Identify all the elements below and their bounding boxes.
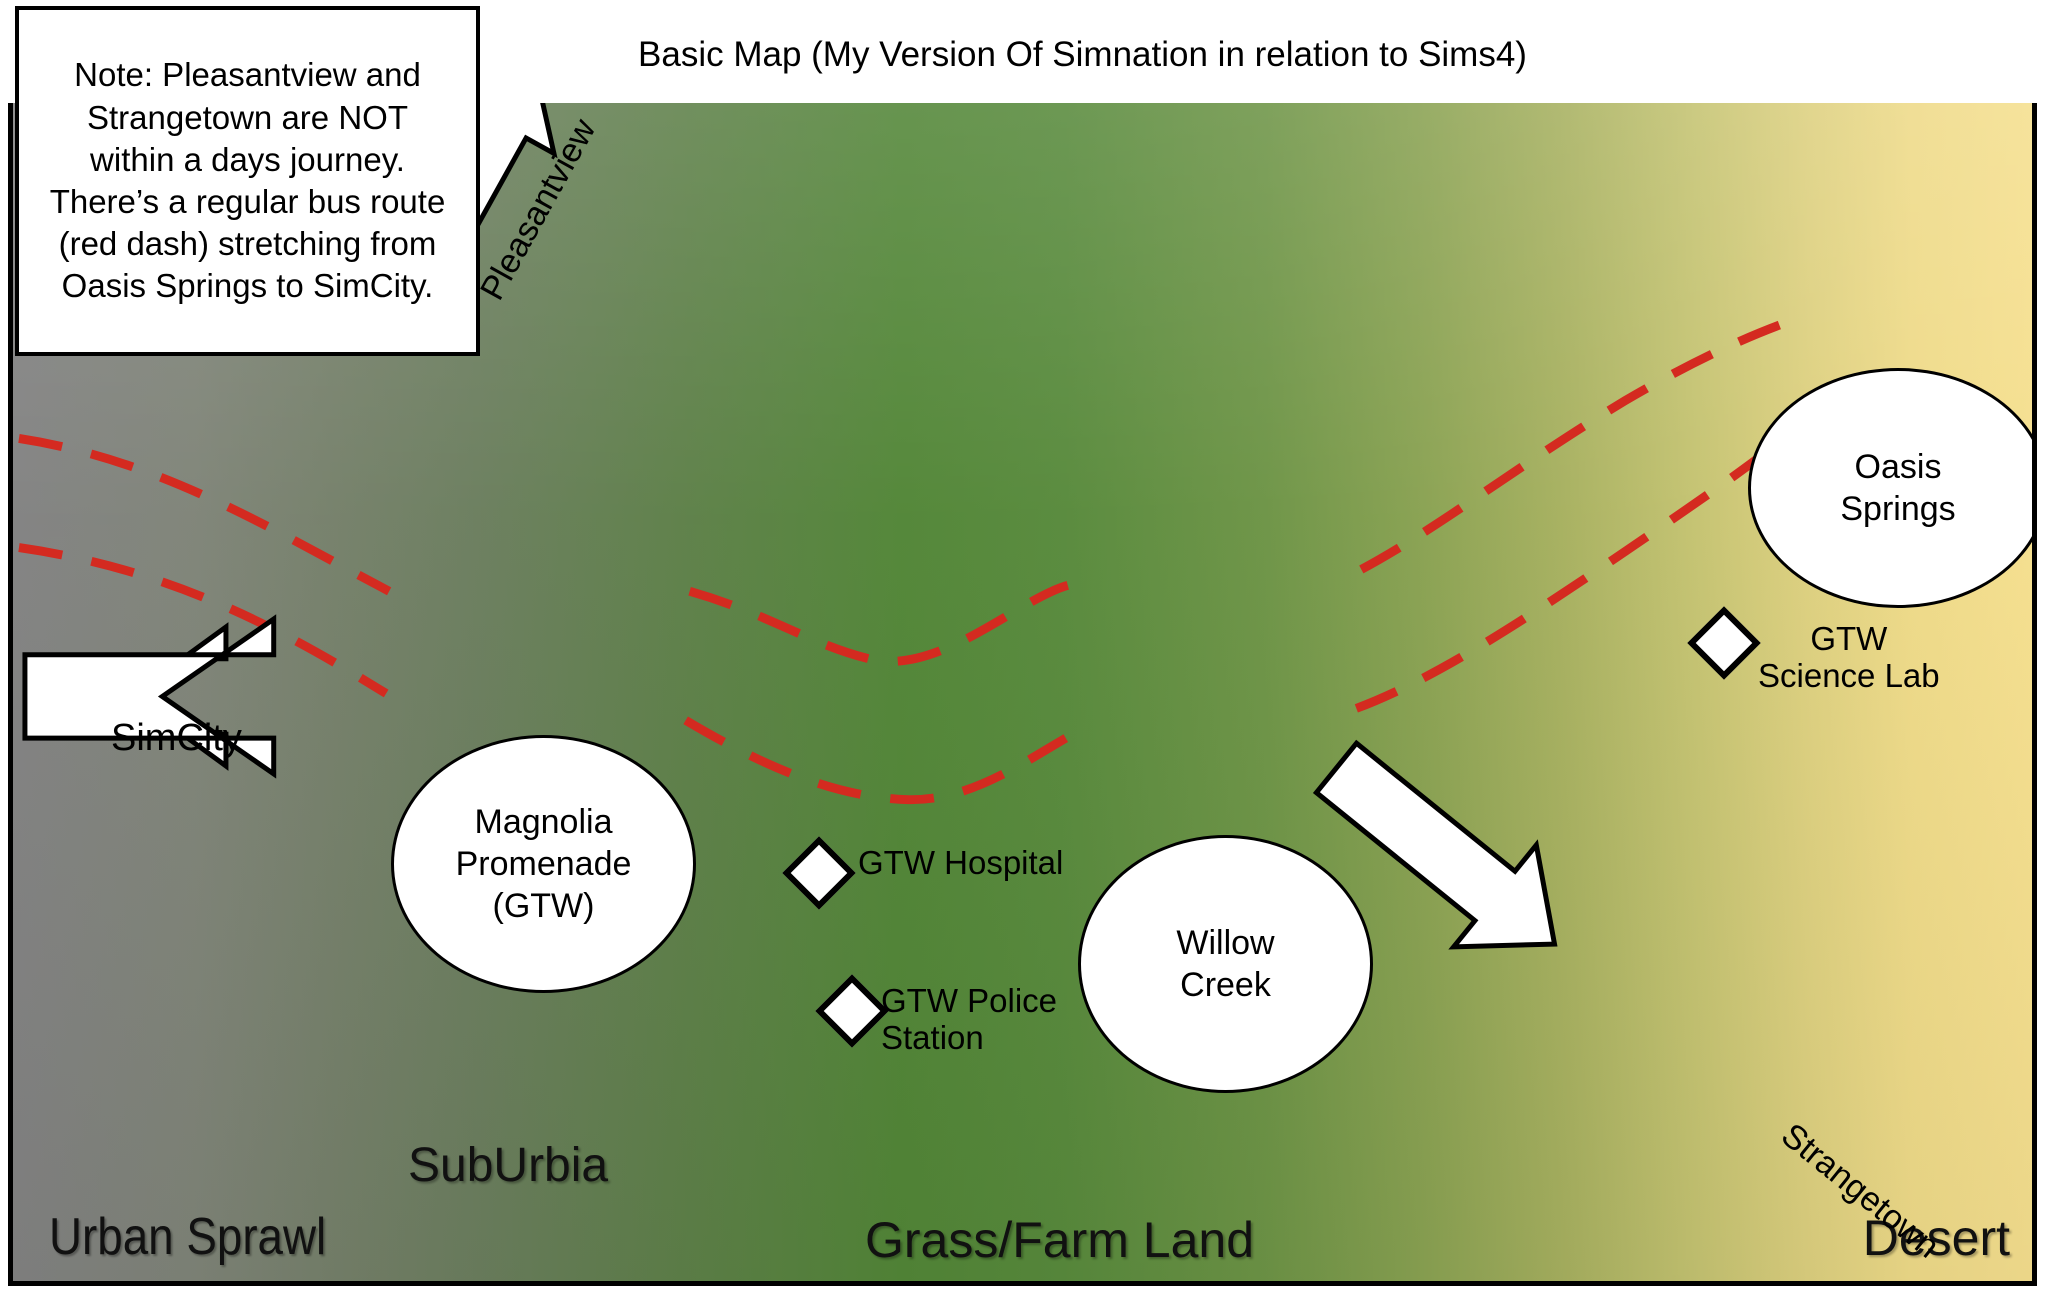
note-callout-text: Note: Pleasantview and Strangetown are N… (50, 54, 446, 307)
zone-label-grass-farm-land: Grass/Farm Land (865, 1211, 1254, 1269)
simcity-arrow-shape (25, 619, 274, 774)
town-label-oasis-springs: Oasis Springs (1840, 446, 1955, 530)
town-node-magnolia-promenade[interactable]: Magnolia Promenade (GTW) (391, 735, 696, 993)
town-node-willow-creek[interactable]: Willow Creek (1078, 835, 1373, 1093)
landmark-label-gtw-police-station: GTW Police Station (881, 983, 1057, 1057)
town-node-oasis-springs[interactable]: Oasis Springs (1748, 368, 2037, 608)
landmark-label-gtw-hospital: GTW Hospital (858, 845, 1063, 882)
zone-label-desert: Desert (1863, 1209, 2010, 1267)
note-callout-box: Note: Pleasantview and Strangetown are N… (15, 6, 480, 356)
map-canvas: Pleasantview SimCity Strangetown Magnoli… (0, 0, 2045, 1294)
map-title: Basic Map (My Version Of Simnation in re… (638, 35, 1527, 75)
town-label-willow-creek: Willow Creek (1176, 922, 1274, 1006)
landmark-label-gtw-science-lab: GTW Science Lab (1758, 621, 1940, 695)
zone-label-suburbia: SubUrbia (408, 1138, 608, 1193)
town-label-magnolia-promenade: Magnolia Promenade (GTW) (456, 801, 632, 927)
zone-label-urban-sprawl: Urban Sprawl (49, 1207, 326, 1267)
